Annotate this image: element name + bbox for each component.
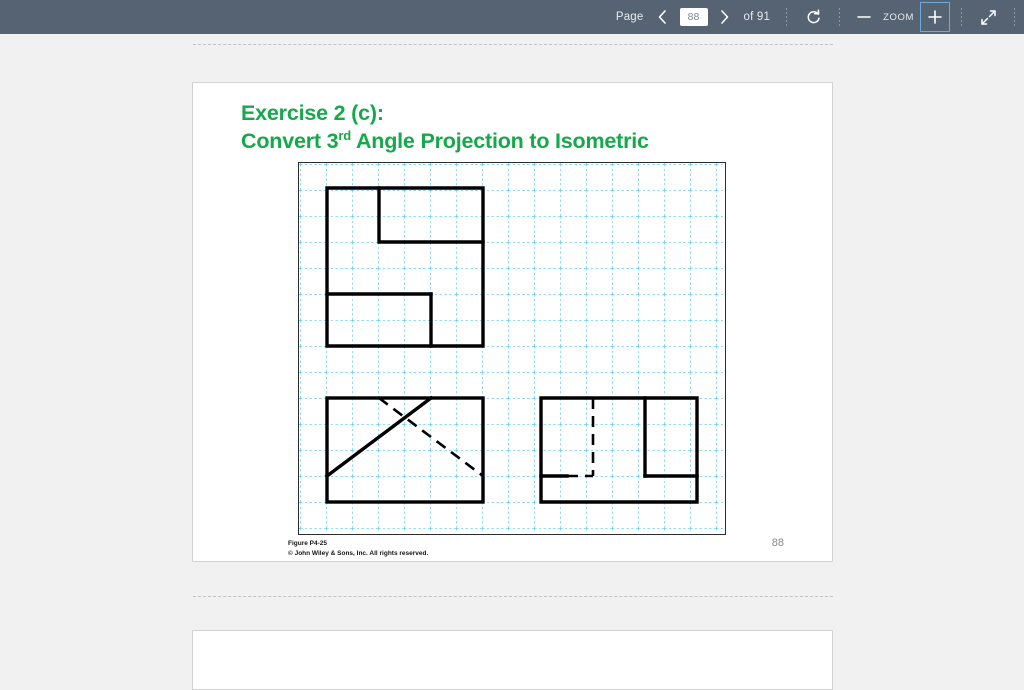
figure-caption-number: Figure P4-25 (288, 539, 428, 549)
slide-separator-bottom (193, 596, 833, 597)
slide-separator-top (193, 44, 833, 45)
slide-page-number: 88 (772, 537, 784, 549)
page-number-input[interactable]: 88 (680, 8, 708, 26)
toolbar-divider-3 (961, 8, 962, 26)
figure-caption: Figure P4-25 © John Wiley & Sons, Inc. A… (288, 539, 428, 558)
slide-title-line2: Convert 3rd Angle Projection to Isometri… (241, 127, 649, 155)
zoom-controls-group: ZOOM (849, 0, 952, 34)
toolbar-divider-4 (1014, 8, 1015, 26)
chevron-right-icon (719, 9, 730, 25)
technical-drawing-figure (298, 162, 726, 535)
slide-scroll-area[interactable]: Exercise 2 (c): Convert 3rd Angle Projec… (0, 34, 1024, 640)
plus-icon (928, 10, 942, 24)
slide-page-88[interactable]: Exercise 2 (c): Convert 3rd Angle Projec… (192, 82, 833, 562)
rotate-button[interactable] (796, 0, 830, 34)
slide-page-next[interactable] (192, 630, 833, 690)
orthographic-projection-drawing (299, 163, 724, 533)
page-label: Page (609, 11, 651, 23)
slide-title-line2-post: Angle Projection to Isometric (351, 129, 649, 153)
slide-title-ordinal-suffix: rd (338, 128, 351, 143)
page-navigation-group: Page 88 of 91 (609, 0, 777, 34)
zoom-label: ZOOM (879, 12, 918, 23)
slide-title: Exercise 2 (c): Convert 3rd Angle Projec… (241, 99, 649, 155)
exit-fullscreen-button[interactable] (971, 0, 1005, 34)
next-page-button[interactable] (713, 0, 737, 34)
zoom-out-button[interactable] (849, 0, 879, 34)
zoom-in-button[interactable] (920, 2, 950, 32)
slide-title-line1: Exercise 2 (c): (241, 99, 649, 127)
rotate-icon (805, 9, 822, 26)
total-pages-label: of 91 (737, 11, 778, 23)
chevron-left-icon (657, 9, 668, 25)
toolbar-divider-2 (839, 8, 840, 26)
previous-page-button[interactable] (651, 0, 675, 34)
viewer-toolbar: Page 88 of 91 ZOOM (0, 0, 1024, 34)
minus-icon (857, 10, 871, 24)
collapse-fullscreen-icon (980, 9, 997, 26)
figure-caption-copyright: © John Wiley & Sons, Inc. All rights res… (288, 549, 428, 559)
slide-title-line2-pre: Convert 3 (241, 129, 338, 153)
toolbar-divider-1 (786, 8, 787, 26)
